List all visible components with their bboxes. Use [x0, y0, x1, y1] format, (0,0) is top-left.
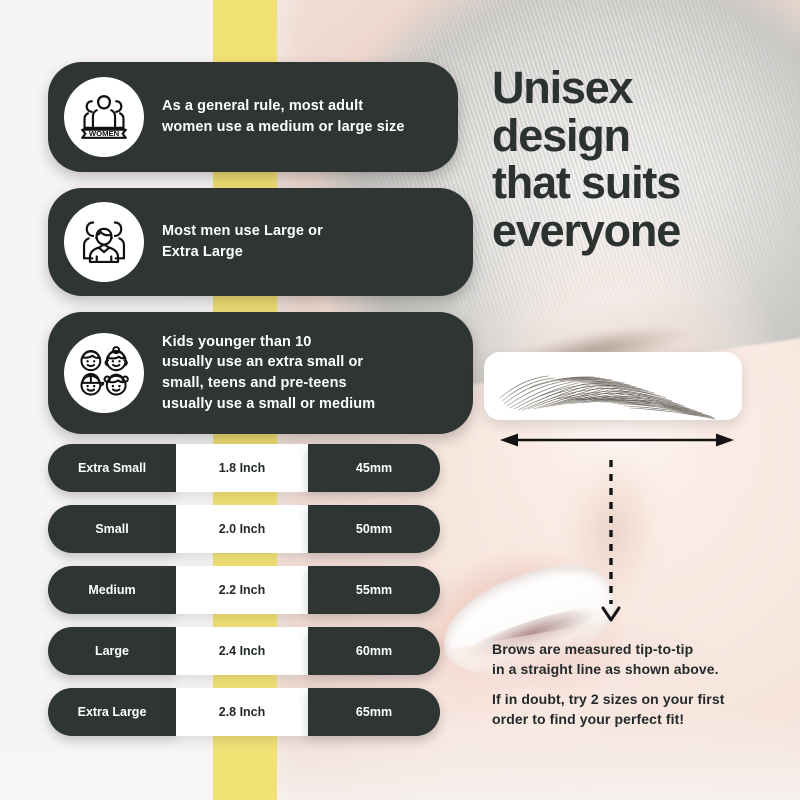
page-title: Unisex design that suits everyone [492, 64, 792, 255]
info-card-men-text: Most men use Large or Extra Large [162, 221, 323, 262]
eyebrow-image [484, 352, 742, 420]
infographic-canvas: WOMEN As a general rule, most adult wome… [0, 0, 800, 800]
table-row: Extra Large 2.8 Inch 65mm [48, 688, 440, 736]
eyebrow-preview-card [484, 352, 742, 420]
size-inch-cell: 2.0 Inch [176, 505, 308, 553]
table-row: Medium 2.2 Inch 55mm [48, 566, 440, 614]
size-name-cell: Extra Large [48, 688, 176, 736]
note-measurement: Brows are measured tip-to-tip in a strai… [492, 640, 792, 680]
note-sizing-advice: If in doubt, try 2 sizes on your first o… [492, 690, 792, 730]
table-row: Extra Small 1.8 Inch 45mm [48, 444, 440, 492]
size-inch-cell: 2.2 Inch [176, 566, 308, 614]
size-name-cell: Extra Small [48, 444, 176, 492]
info-card-women-text: As a general rule, most adult women use … [162, 96, 405, 137]
size-inch-cell: 2.8 Inch [176, 688, 308, 736]
size-inch-cell: 1.8 Inch [176, 444, 308, 492]
women-group-icon: WOMEN [64, 77, 144, 157]
measurement-arrow [498, 432, 736, 448]
svg-text:WOMEN: WOMEN [89, 129, 120, 138]
dashed-down-arrow [600, 458, 622, 624]
info-card-men: Most men use Large or Extra Large [48, 188, 473, 296]
size-name-cell: Medium [48, 566, 176, 614]
table-row: Large 2.4 Inch 60mm [48, 627, 440, 675]
size-name-cell: Small [48, 505, 176, 553]
size-inch-cell: 2.4 Inch [176, 627, 308, 675]
table-row: Small 2.0 Inch 50mm [48, 505, 440, 553]
men-group-icon [64, 202, 144, 282]
kids-faces-icon [64, 333, 144, 413]
info-card-kids-text: Kids younger than 10 usually use an extr… [162, 332, 375, 414]
info-card-kids: Kids younger than 10 usually use an extr… [48, 312, 473, 434]
size-mm-cell: 65mm [308, 688, 440, 736]
size-name-cell: Large [48, 627, 176, 675]
size-mm-cell: 60mm [308, 627, 440, 675]
info-card-women: WOMEN As a general rule, most adult wome… [48, 62, 458, 172]
size-mm-cell: 55mm [308, 566, 440, 614]
size-mm-cell: 50mm [308, 505, 440, 553]
size-mm-cell: 45mm [308, 444, 440, 492]
